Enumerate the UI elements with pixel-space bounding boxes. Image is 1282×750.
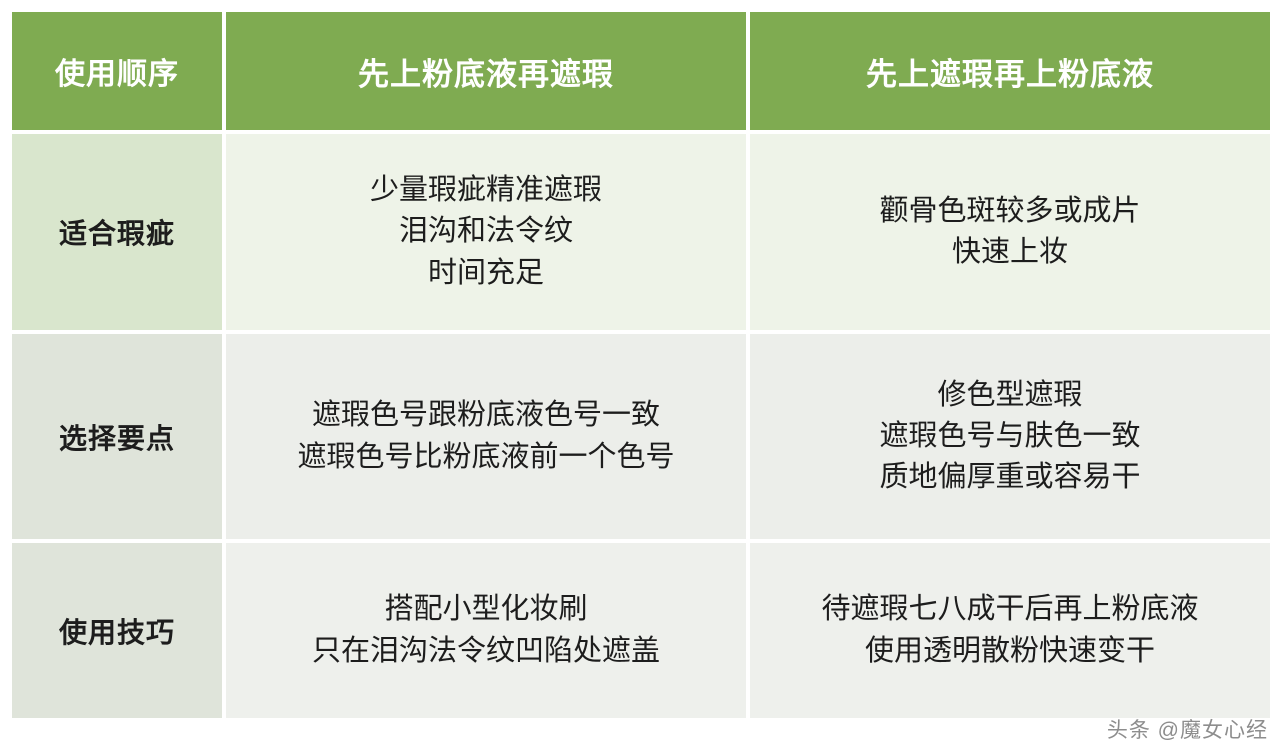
table-header-row: 使用顺序 先上粉底液再遮瑕 先上遮瑕再上粉底液 bbox=[12, 12, 1270, 130]
header-cell-order: 使用顺序 bbox=[12, 12, 222, 130]
row-label-selection-points: 选择要点 bbox=[12, 334, 222, 539]
cell-line: 修色型遮瑕 bbox=[758, 375, 1262, 416]
comparison-table: 使用顺序 先上粉底液再遮瑕 先上遮瑕再上粉底液 适合瑕疵 少量瑕疵精准遮瑕 泪沟… bbox=[8, 8, 1274, 722]
row-label-suitable-flaws: 适合瑕疵 bbox=[12, 134, 222, 330]
cell-suitable-flaws-right: 颧骨色斑较多或成片 快速上妆 bbox=[750, 134, 1270, 330]
cell-line: 只在泪沟法令纹凹陷处遮盖 bbox=[234, 631, 738, 672]
cell-line: 遮瑕色号比粉底液前一个色号 bbox=[234, 437, 738, 478]
table-row: 选择要点 遮瑕色号跟粉底液色号一致 遮瑕色号比粉底液前一个色号 修色型遮瑕 遮瑕… bbox=[12, 334, 1270, 539]
cell-line: 遮瑕色号与肤色一致 bbox=[758, 416, 1262, 457]
cell-line: 待遮瑕七八成干后再上粉底液 bbox=[758, 589, 1262, 630]
document-page: 使用顺序 先上粉底液再遮瑕 先上遮瑕再上粉底液 适合瑕疵 少量瑕疵精准遮瑕 泪沟… bbox=[0, 0, 1282, 750]
row-label-usage-tips: 使用技巧 bbox=[12, 543, 222, 718]
cell-line: 少量瑕疵精准遮瑕 bbox=[234, 170, 738, 211]
cell-line: 搭配小型化妆刷 bbox=[234, 589, 738, 630]
cell-line: 泪沟和法令纹 bbox=[234, 211, 738, 252]
cell-usage-tips-right: 待遮瑕七八成干后再上粉底液 使用透明散粉快速变干 bbox=[750, 543, 1270, 718]
cell-line: 时间充足 bbox=[234, 253, 738, 294]
cell-selection-points-right: 修色型遮瑕 遮瑕色号与肤色一致 质地偏厚重或容易干 bbox=[750, 334, 1270, 539]
cell-line: 遮瑕色号跟粉底液色号一致 bbox=[234, 395, 738, 436]
table-row: 使用技巧 搭配小型化妆刷 只在泪沟法令纹凹陷处遮盖 待遮瑕七八成干后再上粉底液 … bbox=[12, 543, 1270, 718]
table-row: 适合瑕疵 少量瑕疵精准遮瑕 泪沟和法令纹 时间充足 颧骨色斑较多或成片 快速上妆 bbox=[12, 134, 1270, 330]
cell-usage-tips-left: 搭配小型化妆刷 只在泪沟法令纹凹陷处遮盖 bbox=[226, 543, 746, 718]
cell-selection-points-left: 遮瑕色号跟粉底液色号一致 遮瑕色号比粉底液前一个色号 bbox=[226, 334, 746, 539]
header-cell-concealer-first: 先上遮瑕再上粉底液 bbox=[750, 12, 1270, 130]
cell-line: 颧骨色斑较多或成片 bbox=[758, 191, 1262, 232]
cell-suitable-flaws-left: 少量瑕疵精准遮瑕 泪沟和法令纹 时间充足 bbox=[226, 134, 746, 330]
cell-line: 使用透明散粉快速变干 bbox=[758, 631, 1262, 672]
header-cell-foundation-first: 先上粉底液再遮瑕 bbox=[226, 12, 746, 130]
cell-line: 快速上妆 bbox=[758, 232, 1262, 273]
watermark: 头条 @魔女心经 bbox=[1107, 714, 1268, 744]
cell-line: 质地偏厚重或容易干 bbox=[758, 457, 1262, 498]
